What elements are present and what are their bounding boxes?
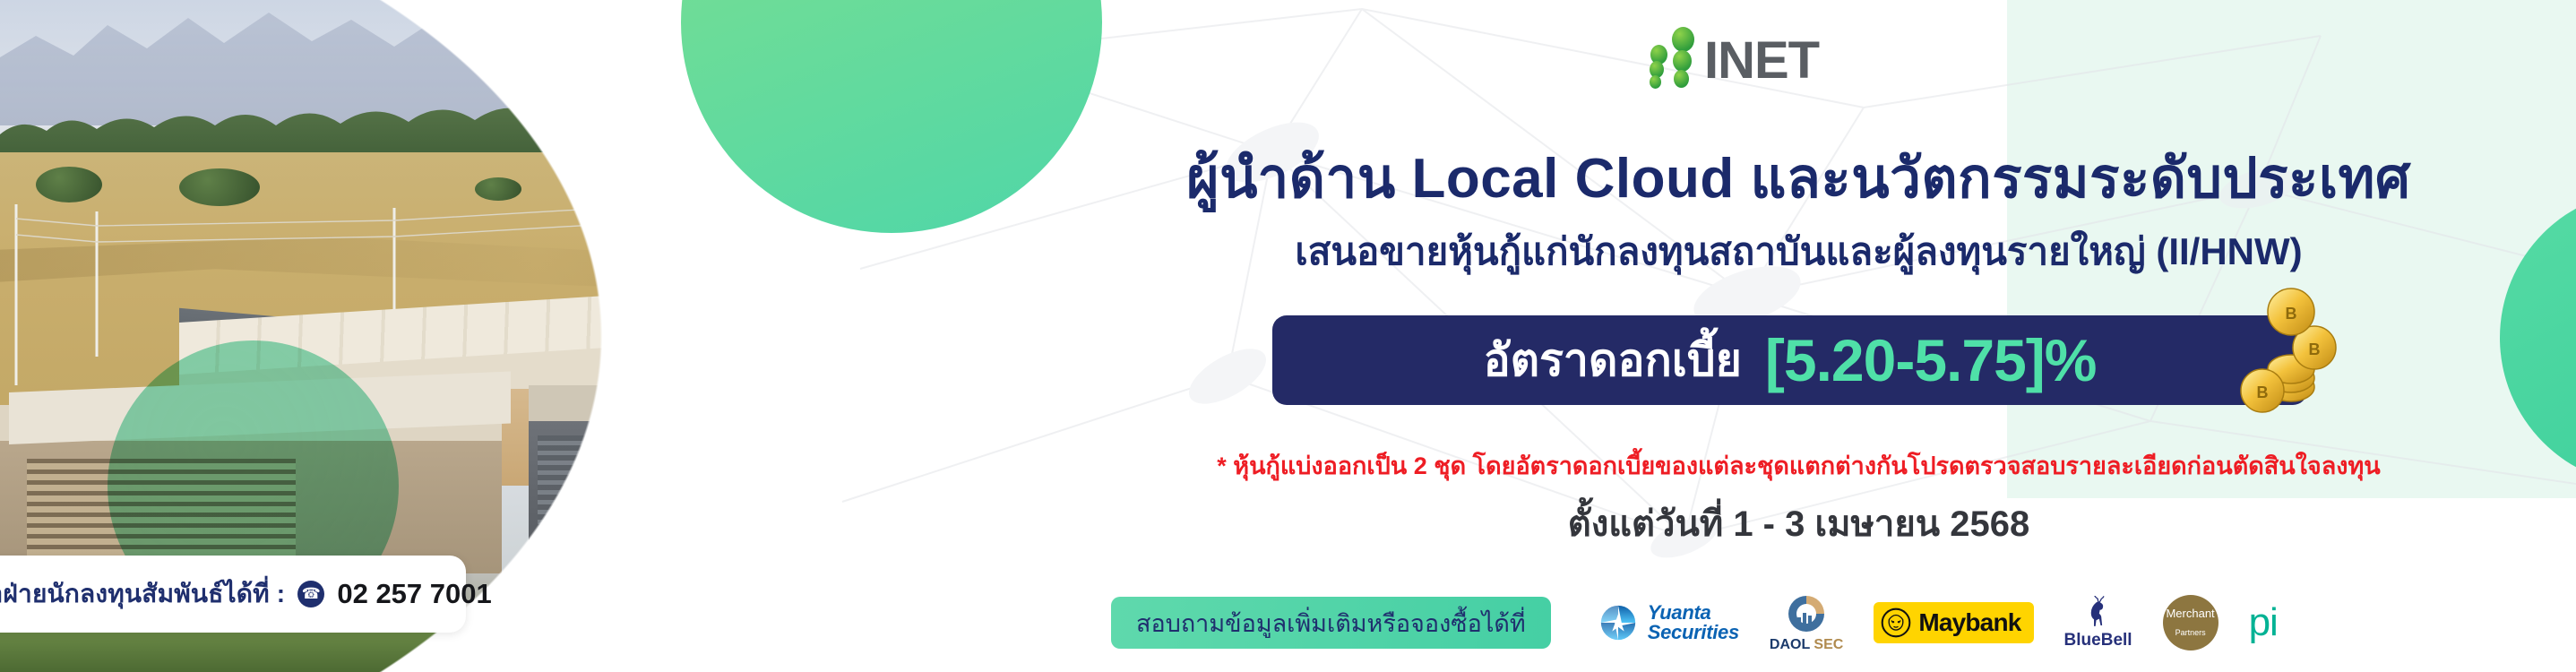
partner-daol-sec[interactable]: DAOL SEC — [1770, 592, 1843, 653]
gold-coins-icon: B B B — [2236, 281, 2343, 416]
content-panel: INET ผู้นำด้าน Local Cloud และนวัตกรรมระ… — [1021, 0, 2576, 672]
daol-pie-icon — [1785, 592, 1828, 635]
daol-line1: DAOL — [1770, 637, 1810, 652]
foreground-grass — [0, 627, 977, 672]
svg-text:B: B — [2309, 340, 2321, 358]
bluebell-wordmark: BlueBell — [2064, 631, 2132, 650]
partner-pi[interactable]: pi — [2249, 605, 2278, 641]
partner-bluebell[interactable]: BlueBell — [2064, 596, 2132, 650]
yuanta-line2: Securities — [1648, 621, 1739, 643]
maybank-wordmark: Maybank — [1918, 608, 2020, 637]
bluebell-deer-icon — [2083, 596, 2114, 630]
investor-relations-contact-card: ติดต่อฝ่ายนักลงทุนสัมพันธ์ได้ที่ : ☎ 02 … — [0, 556, 466, 633]
contact-phone-number[interactable]: 02 257 7001 — [337, 578, 491, 610]
partner-logos: Yuanta Securities — [1576, 592, 2563, 653]
page-title: ผู้นำด้าน Local Cloud และนวัตกรรมระดับปร… — [1021, 134, 2576, 222]
svg-text:B: B — [2257, 383, 2269, 401]
yuanta-star-icon — [1598, 602, 1639, 643]
offering-dates: ตั้งแต่วันที่ 1 - 3 เมษายน 2568 — [1021, 495, 2576, 552]
interest-rate-label: อัตราดอกเบี้ย — [1484, 325, 1742, 396]
disclaimer-note: * หุ้นกู้แบ่งออกเป็น 2 ชุด โดยอัตราดอกเบ… — [1021, 446, 2576, 485]
merchant-line1: Merchant — [2166, 607, 2214, 620]
partner-maybank[interactable]: Maybank — [1874, 602, 2033, 643]
promotional-banner: ติดต่อฝ่ายนักลงทุนสัมพันธ์ได้ที่ : ☎ 02 … — [0, 0, 2576, 672]
pi-wordmark: pi — [2249, 605, 2278, 641]
svg-text:B: B — [2286, 305, 2297, 323]
daol-wordmark: DAOL SEC — [1770, 637, 1843, 653]
phone-icon: ☎ — [297, 581, 324, 607]
partner-merchant-partners[interactable]: Merchant Partners — [2163, 595, 2218, 650]
interest-rate-box: อัตราดอกเบี้ย [5.20-5.75]% — [1272, 315, 2307, 405]
inquiry-button[interactable]: สอบถามข้อมูลเพิ่มเติมหรือจองซื้อได้ที่ — [1111, 597, 1551, 649]
daol-line2: SEC — [1814, 637, 1843, 652]
inet-wordmark: INET — [1704, 37, 1819, 84]
cta-and-partners-row: สอบถามข้อมูลเพิ่มเติมหรือจองซื้อได้ที่ — [1111, 584, 2563, 661]
contact-label: ติดต่อฝ่ายนักลงทุนสัมพันธ์ได้ที่ : — [0, 574, 285, 614]
partner-yuanta[interactable]: Yuanta Securities — [1598, 602, 1739, 643]
subtitle: เสนอขายหุ้นกู้แก่นักลงทุนสถาบันและผู้ลงท… — [1021, 222, 2576, 281]
yuanta-wordmark: Yuanta Securities — [1648, 603, 1739, 642]
inet-dots-icon — [1649, 20, 1699, 84]
maybank-tiger-icon — [1881, 607, 1911, 638]
inet-logo[interactable]: INET — [1649, 16, 1819, 84]
merchant-line2: Partners — [2175, 629, 2206, 637]
interest-rate-value: [5.20-5.75]% — [1765, 326, 2097, 394]
